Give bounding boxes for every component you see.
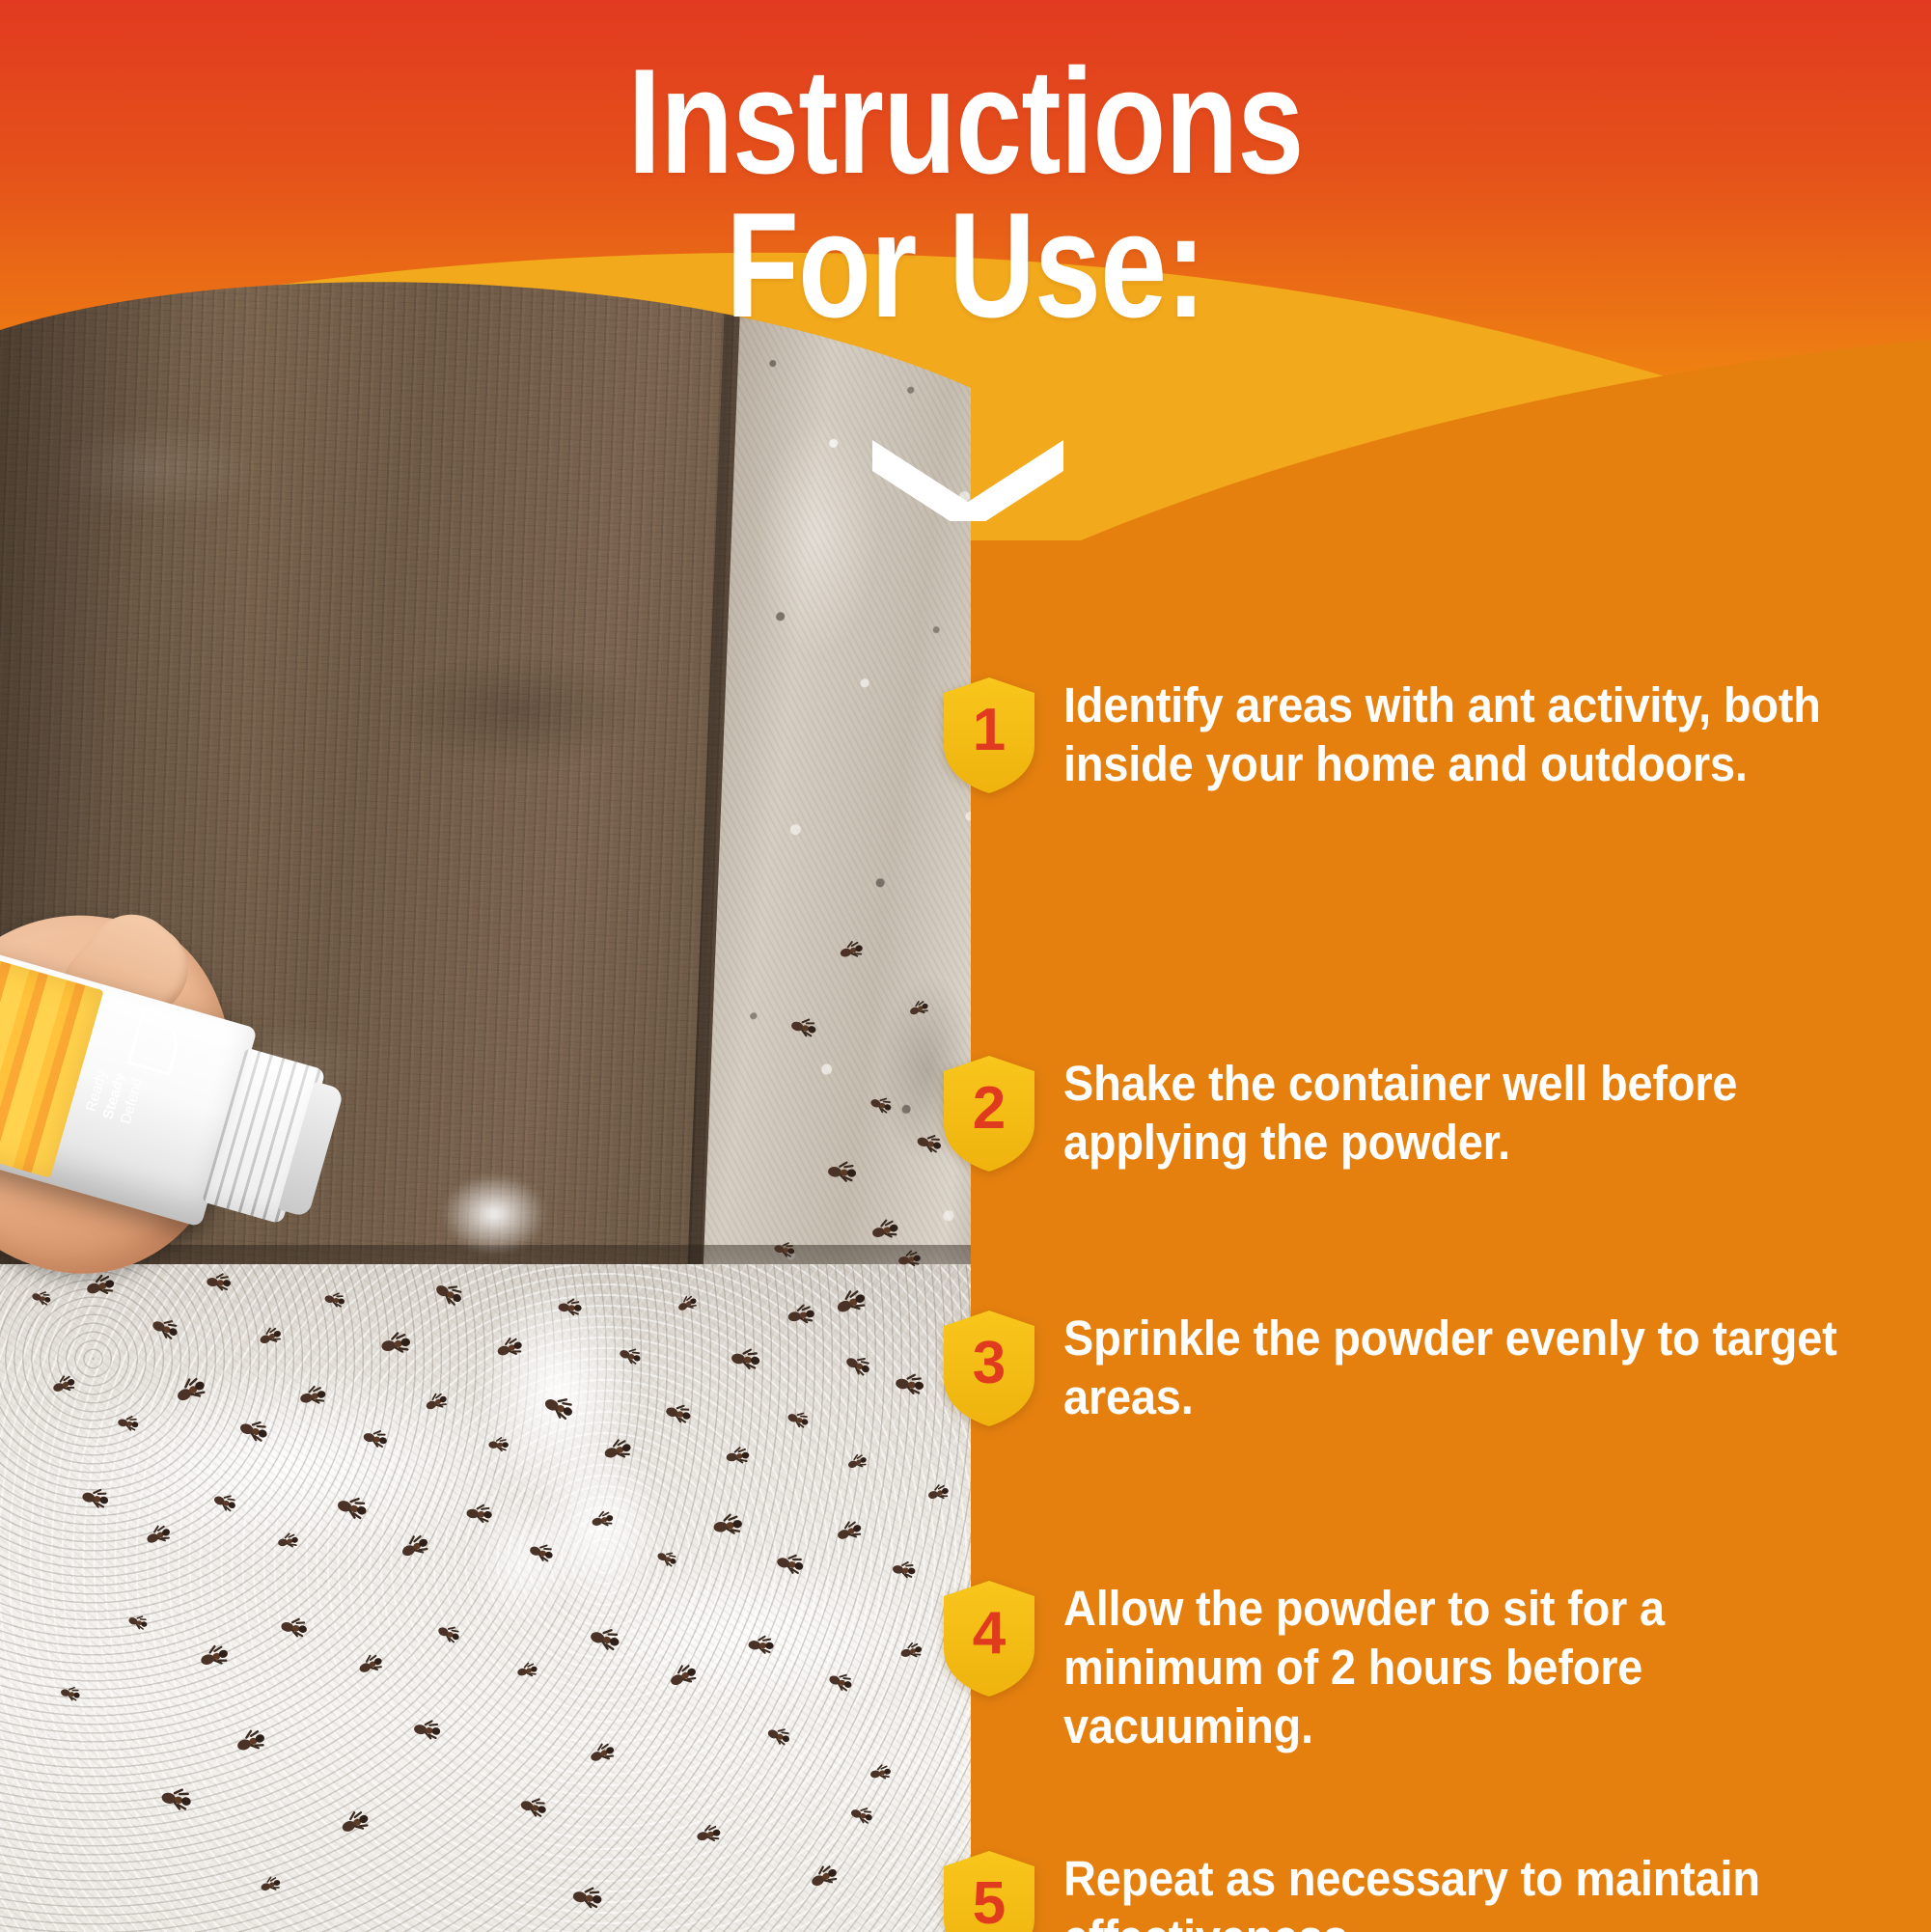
step-number-shield-badge: 2 [938, 1054, 1040, 1173]
step-text: Identify areas with ant activity, both i… [1063, 676, 1862, 793]
step-number: 5 [973, 1874, 1006, 1932]
step-number-shield-badge: 1 [938, 676, 1040, 795]
ant [726, 1450, 750, 1463]
instruction-step: 3Sprinkle the powder evenly to target ar… [955, 1309, 1931, 1426]
instruction-step: 5Repeat as necessary to maintain effecti… [955, 1849, 1931, 1932]
step-number-shield-badge: 5 [938, 1849, 1040, 1932]
step-text: Allow the powder to sit for a minimum of… [1063, 1579, 1862, 1756]
step-badge-cell: 1 [955, 676, 1063, 793]
instructions-infographic: Instructions For Use: [0, 0, 1931, 1932]
product-usage-photo: ANT KILLER POWDER INDOOR & OUTDOOR USE W… [0, 270, 971, 1932]
step-badge-cell: 4 [955, 1579, 1063, 1756]
instruction-step: 1Identify areas with ant activity, both … [955, 676, 1931, 793]
ant [488, 1440, 510, 1450]
step-badge-cell: 3 [955, 1309, 1063, 1426]
step-text: Sprinkle the powder evenly to target are… [1063, 1309, 1862, 1426]
ant [748, 1639, 775, 1653]
step-number: 4 [973, 1604, 1006, 1664]
step-number-shield-badge: 4 [938, 1579, 1040, 1698]
instruction-step: 2Shake the container well before applyin… [955, 1054, 1931, 1172]
ant [558, 1302, 583, 1315]
step-text: Repeat as necessary to maintain effectiv… [1063, 1849, 1862, 1932]
chevron-down-icon [867, 432, 1069, 521]
instruction-step-list: 1Identify areas with ant activity, both … [955, 676, 1931, 1891]
step-number: 3 [973, 1334, 1006, 1394]
instruction-step: 4Allow the powder to sit for a minimum o… [955, 1579, 1931, 1756]
step-number-shield-badge: 3 [938, 1309, 1040, 1428]
step-text: Shake the container well before applying… [1063, 1054, 1862, 1172]
step-badge-cell: 2 [955, 1054, 1063, 1172]
step-number: 1 [973, 701, 1006, 760]
step-badge-cell: 5 [955, 1849, 1063, 1932]
step-number: 2 [973, 1079, 1006, 1139]
